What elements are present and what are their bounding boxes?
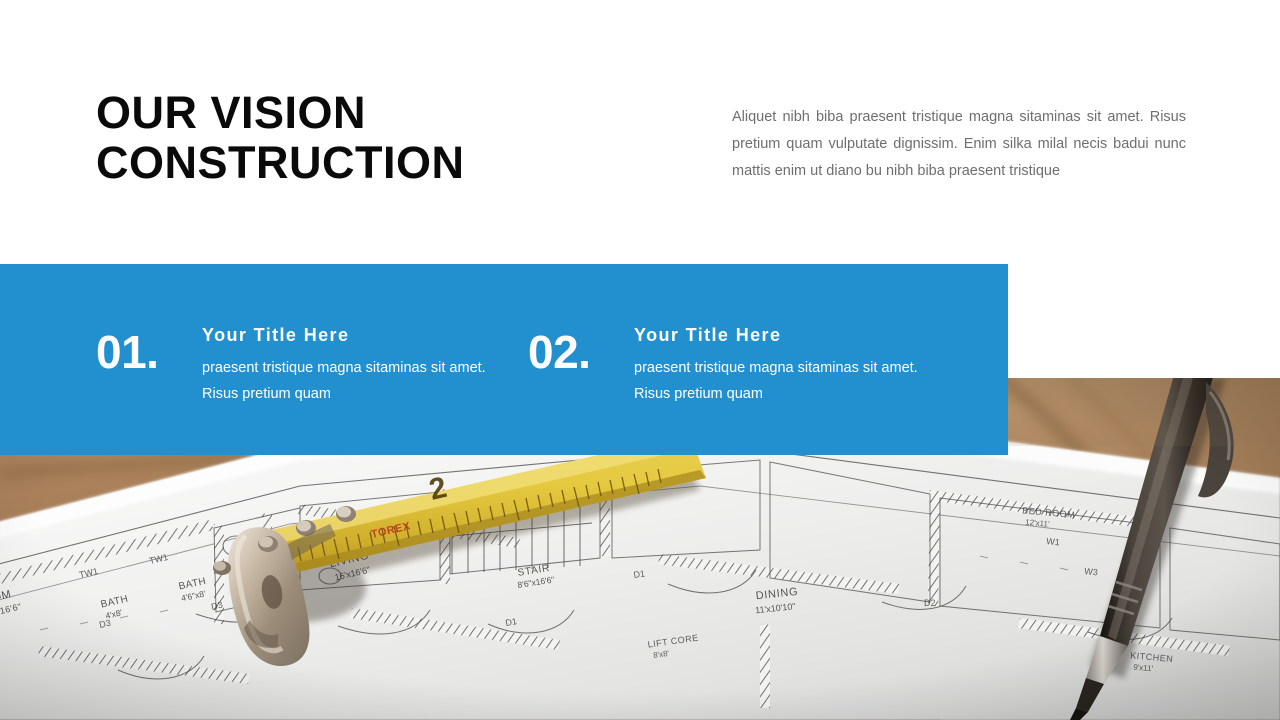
feature-panel: 01. Your Title Here praesent tristique m… [0, 264, 1008, 455]
header-white-background [1008, 264, 1280, 378]
feature-text-01: Your Title Here praesent tristique magna… [202, 324, 502, 407]
page-title-line-1: OUR VISION [96, 88, 616, 138]
feature-number-02: 02. [528, 329, 634, 375]
page-title: OUR VISION CONSTRUCTION [96, 88, 616, 188]
feature-item-02[interactable]: 02. Your Title Here praesent tristique m… [528, 324, 934, 407]
feature-text-02: Your Title Here praesent tristique magna… [634, 324, 934, 407]
page-title-line-2: CONSTRUCTION [96, 138, 616, 188]
feature-description-02: praesent tristique magna sitaminas sit a… [634, 355, 934, 407]
header-section: OUR VISION CONSTRUCTION Aliquet nibh bib… [0, 0, 1280, 264]
feature-item-01[interactable]: 01. Your Title Here praesent tristique m… [96, 324, 502, 407]
feature-title-01: Your Title Here [202, 324, 502, 346]
feature-number-01: 01. [96, 329, 202, 375]
feature-description-01: praesent tristique magna sitaminas sit a… [202, 355, 502, 407]
feature-title-02: Your Title Here [634, 324, 934, 346]
intro-paragraph: Aliquet nibh biba praesent tristique mag… [732, 104, 1186, 185]
